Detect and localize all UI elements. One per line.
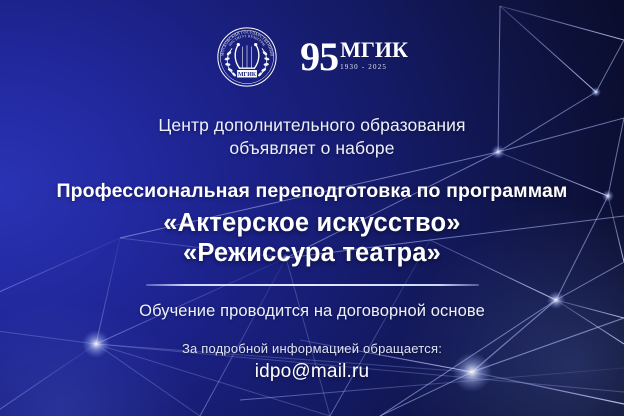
anniversary-abbr: МГИК <box>340 39 408 61</box>
contact-email[interactable]: idpo@mail.ru <box>255 361 370 383</box>
mgik-lyre-emblem-icon: МОСКОВСКИЙ ГОСУДАРСТВЕННЫЙ ИНСТИТУТ КУЛЬ… <box>216 26 278 88</box>
headline: Профессиональная переподготовка по прогр… <box>57 180 568 203</box>
program-item-1: «Актерское искусство» <box>163 209 460 239</box>
terms-text: Обучение проводится на договорной основе <box>139 302 485 321</box>
poster-canvas: МОСКОВСКИЙ ГОСУДАРСТВЕННЫЙ ИНСТИТУТ КУЛЬ… <box>0 0 624 416</box>
section-divider <box>146 284 479 286</box>
contact-label: За подробной информацией обращается: <box>182 341 442 356</box>
intro-line-2: объявляет о наборе <box>158 137 465 160</box>
logo-row: МОСКОВСКИЙ ГОСУДАРСТВЕННЫЙ ИНСТИТУТ КУЛЬ… <box>216 26 408 88</box>
program-list: «Актерское искусство» «Режиссура театра» <box>163 209 460 268</box>
anniversary-number: 95 <box>300 39 338 76</box>
anniversary-years: 1930 - 2025 <box>340 63 387 71</box>
anniversary-logo: 95 МГИК 1930 - 2025 <box>300 39 408 76</box>
svg-text:МГИК: МГИК <box>238 72 257 78</box>
poster-content: МОСКОВСКИЙ ГОСУДАРСТВЕННЫЙ ИНСТИТУТ КУЛЬ… <box>0 0 624 416</box>
intro-line-1: Центр дополнительного образования <box>158 115 465 135</box>
program-item-2: «Режиссура театра» <box>163 239 460 269</box>
intro-text: Центр дополнительного образования объявл… <box>158 114 465 160</box>
